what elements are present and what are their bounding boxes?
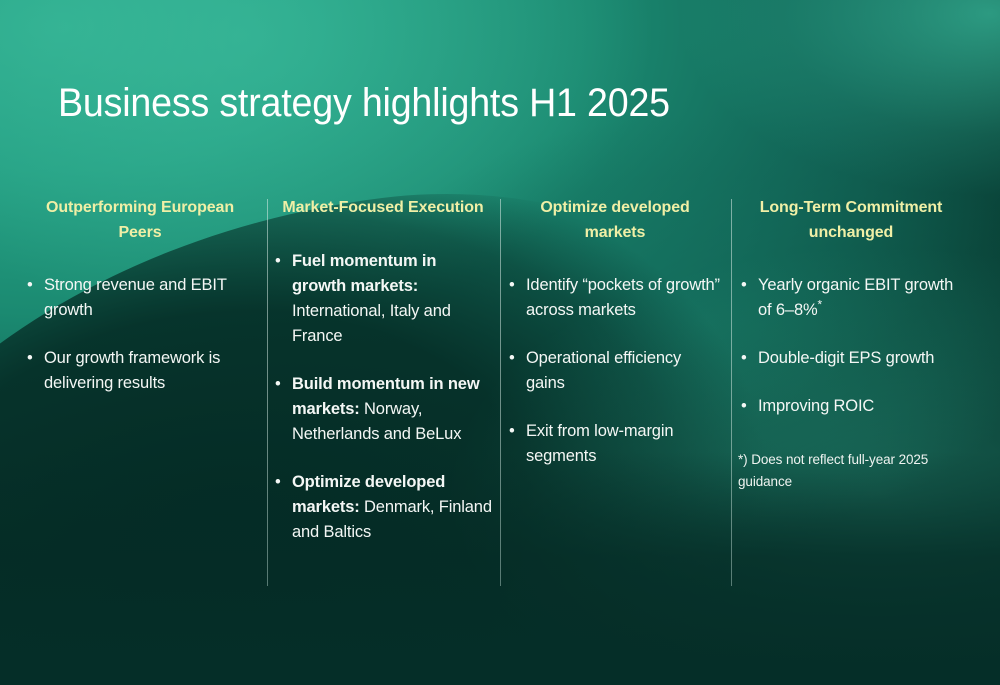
bullet-dot-icon: • [275,372,281,397]
bullet-dot-icon: • [509,419,515,444]
column-heading: Outperforming European Peers [24,196,256,245]
bullet-text: Our growth framework is delivering resul… [44,349,220,392]
bullet-dot-icon: • [27,346,33,371]
bullet-dot-icon: • [741,273,747,298]
bullet-text: Strong revenue and EBIT growth [44,276,226,319]
bullet-lead-in: Fuel momentum in growth markets: [292,252,436,295]
list-item: • Strong revenue and EBIT growth [24,273,256,323]
column-long-term-commitment: Long-Term Commitment unchanged • Yearly … [738,196,964,596]
bullet-text: Identify “pockets of growth” across mark… [526,276,720,319]
list-item: • Optimize developed markets: Denmark, F… [272,470,494,545]
bullet-dot-icon: • [275,470,281,495]
bullet-text: Yearly organic EBIT growth of 6–8% [758,276,953,319]
list-item: • Fuel momentum in growth markets: Inter… [272,249,494,349]
list-item: • Operational efficiency gains [506,346,724,396]
column-footnote: *) Does not reflect full-year 2025 guida… [738,449,964,493]
columns-container: Outperforming European Peers • Strong re… [0,196,1000,596]
column-optimize-developed-markets: Optimize developed markets • Identify “p… [506,196,724,596]
presentation-slide: Business strategy highlights H1 2025 Out… [0,0,1000,685]
column-heading: Long-Term Commitment unchanged [738,196,964,245]
column-outperforming-european-peers: Outperforming European Peers • Strong re… [24,196,256,596]
bullet-dot-icon: • [509,273,515,298]
slide-title: Business strategy highlights H1 2025 [58,78,670,128]
bullet-text: Operational efficiency gains [526,349,681,392]
bullet-list: • Strong revenue and EBIT growth • Our g… [24,273,256,396]
bullet-text: Exit from low-margin segments [526,422,673,465]
list-item: • Build momentum in new markets: Norway,… [272,372,494,447]
bullet-dot-icon: • [741,346,747,371]
column-heading: Market-Focused Execution [272,196,494,221]
list-item: • Double-digit EPS growth [738,346,964,371]
bullet-dot-icon: • [741,394,747,419]
footnote-marker: * [818,298,822,312]
bullet-dot-icon: • [27,273,33,298]
column-heading: Optimize developed markets [506,196,724,245]
list-item: • Our growth framework is delivering res… [24,346,256,396]
bullet-dot-icon: • [509,346,515,371]
list-item: • Yearly organic EBIT growth of 6–8%* [738,273,964,323]
column-market-focused-execution: Market-Focused Execution • Fuel momentum… [272,196,494,596]
list-item: • Improving ROIC [738,394,964,419]
list-item: • Exit from low-margin segments [506,419,724,469]
list-item: • Identify “pockets of growth” across ma… [506,273,724,323]
bullet-text: Double-digit EPS growth [758,349,934,367]
bullet-list: • Yearly organic EBIT growth of 6–8%* • … [738,273,964,419]
bullet-dot-icon: • [275,249,281,274]
bullet-text: International, Italy and France [292,302,451,345]
bullet-list: • Fuel momentum in growth markets: Inter… [272,249,494,545]
bullet-text: Improving ROIC [758,397,874,415]
bullet-list: • Identify “pockets of growth” across ma… [506,273,724,469]
